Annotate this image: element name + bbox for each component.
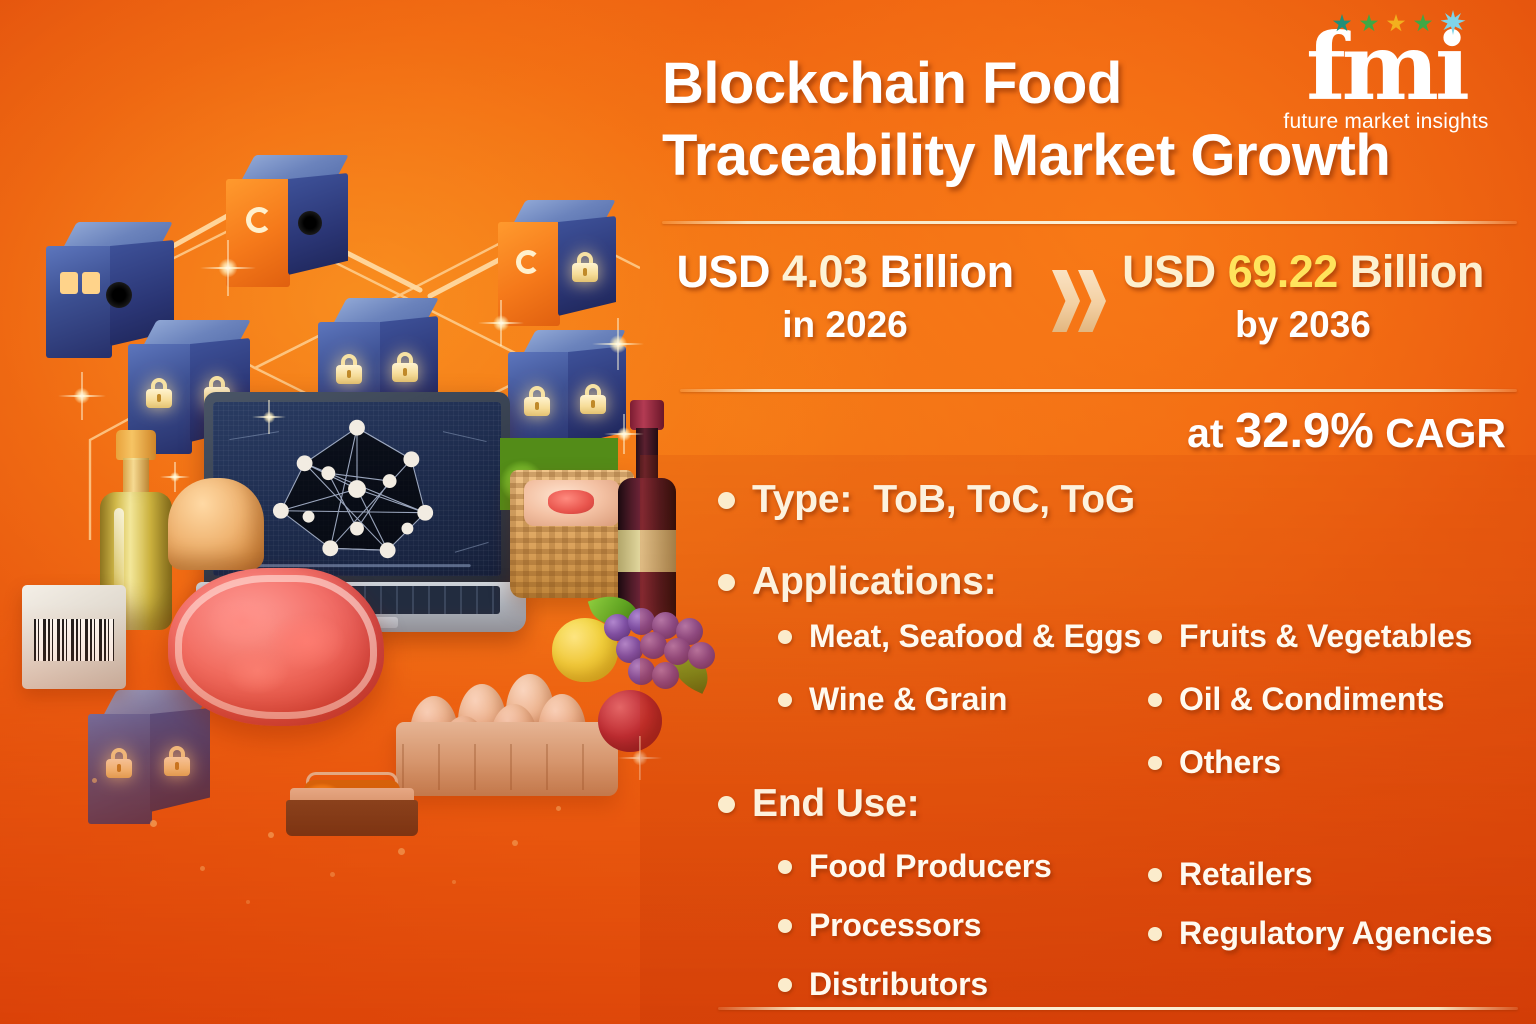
list-item-label: Retailers <box>1179 856 1312 893</box>
bullet-icon <box>778 860 792 874</box>
base-value: 4.03 <box>782 246 868 297</box>
bread-loaf <box>168 478 264 570</box>
forecast-year-figure: USD 69.22 Billion by 2036 <box>1088 246 1518 346</box>
applications-column-left: Meat, Seafood & Eggs Wine & Grain <box>778 618 1148 780</box>
divider-under-figures <box>680 389 1517 392</box>
end-use-column-left: Food Producers Processors Distributors <box>778 848 1148 1002</box>
raw-meat-steak <box>168 568 384 726</box>
page-title: Blockchain Food Traceability Market Grow… <box>662 48 1452 192</box>
list-item-label: Others <box>1179 744 1281 781</box>
base-prefix: USD <box>676 246 770 297</box>
cagr-suffix: CAGR <box>1385 410 1506 456</box>
bullet-icon <box>718 574 735 591</box>
segment-end-use: End Use: <box>718 782 919 827</box>
list-item: Regulatory Agencies <box>1148 915 1508 952</box>
blockchain-cube-2 <box>226 155 348 293</box>
padlock-icon <box>336 354 362 384</box>
applications-column-right: Fruits & Vegetables Oil & Condiments Oth… <box>1148 618 1508 780</box>
bullet-icon <box>1148 693 1162 707</box>
blockchain-cube-7 <box>88 690 210 830</box>
bullet-icon <box>778 978 792 992</box>
base-period: in 2026 <box>650 304 1040 346</box>
padlock-icon <box>392 352 418 382</box>
market-figures: USD 4.03 Billion in 2026 USD 69.22 Billi… <box>640 246 1536 376</box>
sparkle <box>200 240 256 296</box>
padlock-icon <box>106 748 132 778</box>
sparkle <box>478 300 524 346</box>
bullet-icon <box>778 919 792 933</box>
padlock-icon <box>164 746 190 776</box>
list-item-label: Distributors <box>809 966 988 1003</box>
list-item: Processors <box>778 907 1148 944</box>
divider-under-type <box>718 1007 1518 1010</box>
cagr-value: 32.9% <box>1235 404 1374 458</box>
segment-type: Type: ToB, ToC, ToG <box>718 478 1135 523</box>
title-line-2: Traceability Market Growth <box>662 123 1390 188</box>
segment-type-text: Type: ToB, ToC, ToG <box>752 478 1135 523</box>
applications-sublist: Meat, Seafood & Eggs Wine & Grain Fruits… <box>778 618 1518 780</box>
forecast-value: 69.22 <box>1228 246 1338 297</box>
box-glyph <box>82 272 100 294</box>
base-unit: Billion <box>880 246 1014 297</box>
list-item: Others <box>1148 744 1508 781</box>
barcode-icon <box>34 619 114 661</box>
padlock-icon <box>572 252 598 282</box>
sparkle <box>58 372 106 420</box>
forecast-prefix: USD <box>1122 246 1216 297</box>
bullet-icon <box>778 693 792 707</box>
cagr-statement: at 32.9% CAGR <box>1187 403 1506 459</box>
list-item: Oil & Condiments <box>1148 681 1508 718</box>
list-item: Wine & Grain <box>778 681 1148 718</box>
padlock-icon <box>524 386 550 416</box>
divider-under-title <box>662 221 1517 224</box>
list-item-label: Fruits & Vegetables <box>1179 618 1472 655</box>
box-glyph <box>60 272 78 294</box>
cube-port <box>298 211 322 235</box>
segment-applications: Applications: <box>718 560 996 605</box>
segment-type-label: Type: <box>752 478 852 521</box>
segment-type-values: ToB, ToC, ToG <box>873 478 1135 521</box>
bullet-icon <box>1148 868 1162 882</box>
segment-end-use-label: End Use: <box>752 782 919 827</box>
list-item-label: Oil & Condiments <box>1179 681 1444 718</box>
bullet-icon <box>718 492 735 509</box>
list-item: Fruits & Vegetables <box>1148 618 1508 655</box>
forecast-unit: Billion <box>1350 246 1484 297</box>
list-item-label: Processors <box>809 907 981 944</box>
content-column: fmi future market insights Blockchain Fo… <box>640 0 1536 1024</box>
blockchain-cube-1 <box>46 222 174 364</box>
list-item-label: Wine & Grain <box>809 681 1007 718</box>
padlock-icon <box>580 384 606 414</box>
egg-carton <box>396 668 618 796</box>
cagr-prefix: at <box>1187 410 1223 456</box>
list-item: Food Producers <box>778 848 1148 885</box>
sparkle <box>592 318 644 370</box>
cube-port <box>106 282 132 308</box>
segment-applications-label: Applications: <box>752 560 996 605</box>
carrot-crate <box>286 760 418 836</box>
end-use-sublist: Food Producers Processors Distributors R… <box>778 848 1518 1002</box>
bullet-icon <box>1148 927 1162 941</box>
forecast-period: by 2036 <box>1088 304 1518 346</box>
bullet-icon <box>778 630 792 644</box>
list-item-label: Food Producers <box>809 848 1052 885</box>
list-item-label: Regulatory Agencies <box>1179 915 1492 952</box>
padlock-icon <box>146 378 172 408</box>
link-glyph <box>246 207 272 233</box>
base-year-figure: USD 4.03 Billion in 2026 <box>650 246 1040 346</box>
bullet-icon <box>718 796 735 813</box>
list-item-label: Meat, Seafood & Eggs <box>809 618 1141 655</box>
list-item: Meat, Seafood & Eggs <box>778 618 1148 655</box>
bullet-icon <box>1148 630 1162 644</box>
link-glyph <box>516 250 540 274</box>
list-item: Distributors <box>778 966 1148 1003</box>
infographic-canvas: fmi future market insights Blockchain Fo… <box>0 0 1536 1024</box>
blockchain-cube-3 <box>498 200 616 334</box>
title-line-1: Blockchain Food <box>662 51 1122 116</box>
list-item: Retailers <box>1148 856 1508 893</box>
bullet-icon <box>1148 756 1162 770</box>
end-use-column-right: Retailers Regulatory Agencies <box>1148 848 1508 1002</box>
basket-contents <box>524 480 620 526</box>
barcode-package-box <box>22 585 126 689</box>
